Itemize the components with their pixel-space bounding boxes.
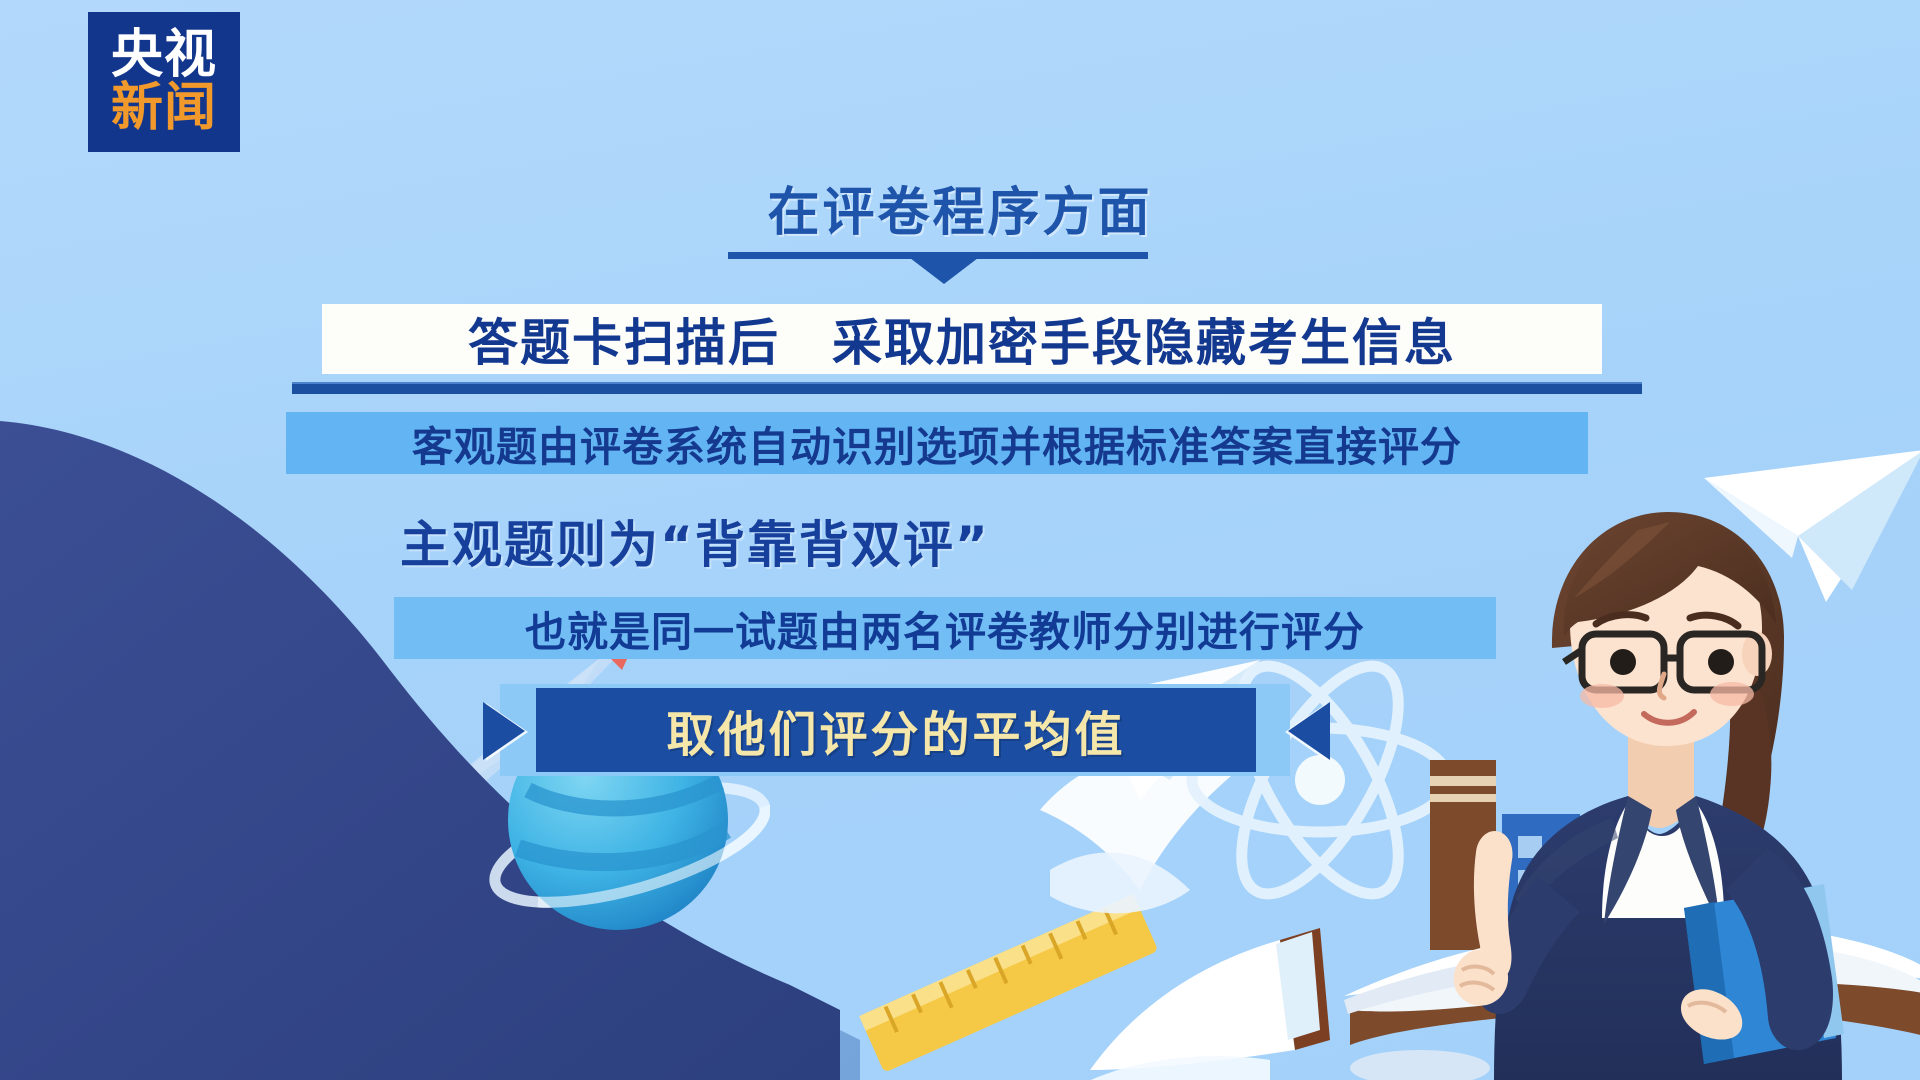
statement-1-divider [292, 382, 1642, 394]
statement-4-text: 也就是同一试题由两名评卷教师分别进行评分 [394, 595, 1496, 661]
blush-right [1710, 682, 1754, 706]
graphic-canvas: 央视 新闻 在评卷程序方面 答题卡扫描后 采取加密手段隐藏考生信息 客观题由评卷… [0, 0, 1920, 1080]
statement-1-text: 答题卡扫描后 采取加密手段隐藏考生信息 [322, 300, 1602, 378]
statement-5-text: 取他们评分的平均值 [536, 688, 1256, 772]
chevron-right-icon [483, 702, 525, 760]
statement-2-text: 客观题由评卷系统自动识别选项并根据标准答案直接评分 [286, 410, 1588, 476]
eye-left [1610, 649, 1636, 675]
chevron-left-icon [1288, 702, 1330, 760]
title-notch-icon [910, 258, 978, 284]
statement-3-text: 主观题则为“背靠背双评” [400, 505, 1160, 577]
blush-left [1580, 684, 1624, 708]
page-title: 在评卷程序方面 [767, 185, 1152, 242]
teacher-character [1432, 478, 1920, 1080]
eye-right [1708, 649, 1734, 675]
headline-wrapper: 在评卷程序方面 [0, 185, 1920, 242]
